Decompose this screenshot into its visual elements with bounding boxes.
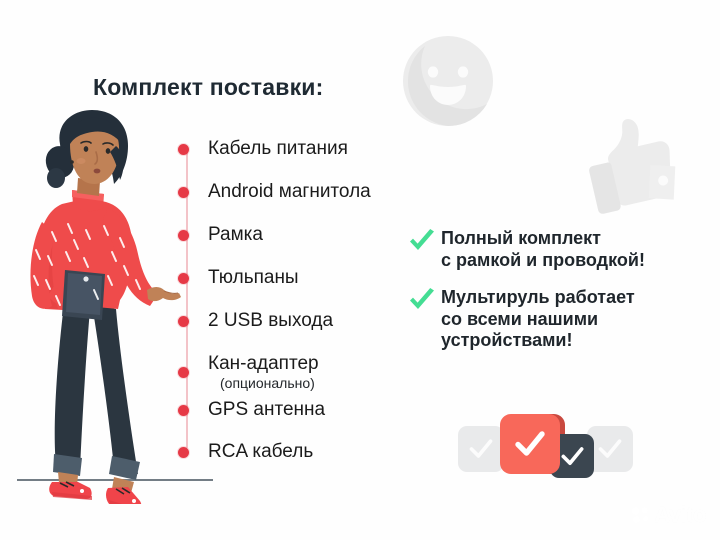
- list-item-label: Android магнитола: [208, 182, 371, 203]
- list-item: Тюльпаны: [178, 268, 299, 289]
- benefit-line-2: с рамкой и проводкой!: [441, 250, 645, 270]
- benefits-list: Полный комплект с рамкой и проводкой! Му…: [408, 228, 708, 368]
- woman-pointing-with-tablet: [8, 104, 188, 504]
- benefit-item: Мультируль работает со всеми нашими устр…: [408, 287, 708, 352]
- list-item: Кабель питания: [178, 139, 348, 160]
- list-item-label: Кан-адаптер (опционально): [208, 354, 319, 391]
- list-item: Android магнитола: [178, 182, 371, 203]
- page-title: Комплект поставки:: [93, 74, 324, 101]
- avito-logo-icon: [631, 506, 651, 524]
- benefit-line-1: Мультируль работает: [441, 287, 635, 307]
- list-item-label: Кабель питания: [208, 139, 348, 160]
- avito-watermark: Avito: [631, 502, 706, 528]
- benefit-item: Полный комплект с рамкой и проводкой!: [408, 228, 708, 271]
- list-item-label: GPS антенна: [208, 400, 325, 421]
- promo-card: Комплект поставки: Кабель питания Androi…: [0, 0, 720, 540]
- list-item: GPS антенна: [178, 400, 325, 421]
- smiley-face-icon: [399, 32, 497, 130]
- benefit-line-2: со всеми нашими: [441, 309, 598, 329]
- benefit-line-1: Полный комплект: [441, 228, 601, 248]
- list-item-label: Тюльпаны: [208, 268, 299, 289]
- green-check-icon: [408, 288, 436, 314]
- avito-watermark-text: Avito: [654, 502, 706, 528]
- green-check-icon: [408, 229, 436, 255]
- list-item-label: 2 USB выхода: [208, 311, 333, 332]
- benefit-line-3: устройствами!: [441, 330, 572, 350]
- list-item-main-text: Кан-адаптер: [208, 353, 319, 374]
- checkbox-card-cluster: [458, 408, 633, 488]
- benefit-label: Мультируль работает со всеми нашими устр…: [441, 287, 635, 352]
- list-item: Рамка: [178, 225, 263, 246]
- list-item: 2 USB выхода: [178, 311, 333, 332]
- thumbs-up-icon: [572, 112, 684, 220]
- list-item-label: Рамка: [208, 225, 263, 246]
- list-item-sub-text: (опционально): [220, 376, 319, 391]
- checkbox-card-coral: [500, 414, 560, 474]
- list-item: RCA кабель: [178, 442, 313, 463]
- list-item-label: RCA кабель: [208, 442, 313, 463]
- checkbox-card-grey-left: [458, 426, 504, 472]
- benefit-label: Полный комплект с рамкой и проводкой!: [441, 228, 645, 271]
- list-item: Кан-адаптер (опционально): [178, 354, 319, 391]
- spec-list: Кабель питания Android магнитола Рамка Т…: [178, 130, 438, 460]
